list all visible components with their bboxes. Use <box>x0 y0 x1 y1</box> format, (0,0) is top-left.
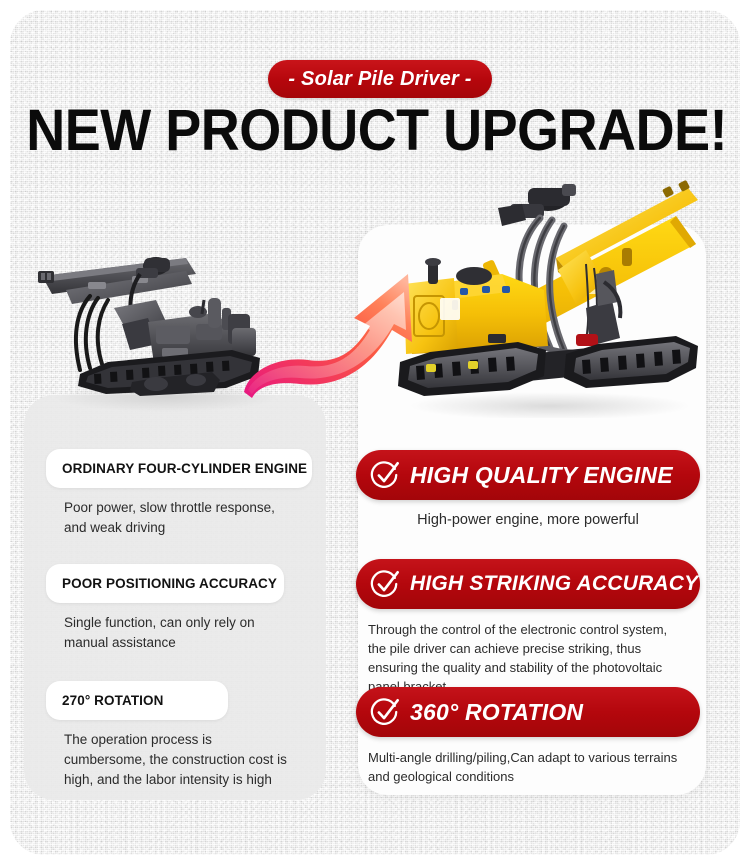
old-feature-desc-3: The operation process is cumbersome, the… <box>46 730 312 790</box>
new-machine-image <box>390 178 702 418</box>
new-feature-pill-1: HIGH QUALITY ENGINE <box>356 450 700 500</box>
old-feature-title-3: 270° ROTATION <box>46 681 228 720</box>
new-feature-card-3: 360° ROTATION Multi-angle drilling/pilin… <box>356 687 700 786</box>
check-circle-icon <box>370 697 400 727</box>
new-feature-pill-2: HIGH STRIKING ACCURACY <box>356 559 700 609</box>
new-feature-title-3: 360° ROTATION <box>410 699 583 726</box>
new-feature-card-2: HIGH STRIKING ACCURACY Through the contr… <box>356 559 700 696</box>
old-feature-title-1: ORDINARY FOUR-CYLINDER ENGINE <box>46 449 312 488</box>
new-feature-desc-1: High-power engine, more powerful <box>356 511 700 530</box>
new-feature-card-1: HIGH QUALITY ENGINE High-power engine, m… <box>356 450 700 530</box>
page-title: NEW PRODUCT UPGRADE! <box>26 100 724 162</box>
old-feature-card-3: 270° ROTATION The operation process is c… <box>46 681 312 790</box>
old-feature-card-1: ORDINARY FOUR-CYLINDER ENGINE Poor power… <box>46 449 312 538</box>
new-feature-title-1: HIGH QUALITY ENGINE <box>410 462 673 489</box>
new-feature-desc-3: Multi-angle drilling/piling,Can adapt to… <box>356 748 700 786</box>
new-feature-pill-3: 360° ROTATION <box>356 687 700 737</box>
infographic-page: - Solar Pile Driver - NEW PRODUCT UPGRAD… <box>0 0 750 865</box>
check-circle-icon <box>370 569 400 599</box>
old-feature-desc-2: Single function, can only rely on manual… <box>46 613 312 653</box>
old-feature-card-2: POOR POSITIONING ACCURACY Single functio… <box>46 564 312 653</box>
product-category-badge: - Solar Pile Driver - <box>268 60 492 98</box>
check-circle-icon <box>370 460 400 490</box>
old-feature-desc-1: Poor power, slow throttle response, and … <box>46 498 312 538</box>
upgrade-arrow-icon <box>242 268 428 400</box>
old-feature-title-2: POOR POSITIONING ACCURACY <box>46 564 284 603</box>
product-category-label: - Solar Pile Driver - <box>288 68 471 91</box>
new-feature-title-2: HIGH STRIKING ACCURACY <box>410 572 698 596</box>
new-feature-desc-2: Through the control of the electronic co… <box>356 620 700 696</box>
